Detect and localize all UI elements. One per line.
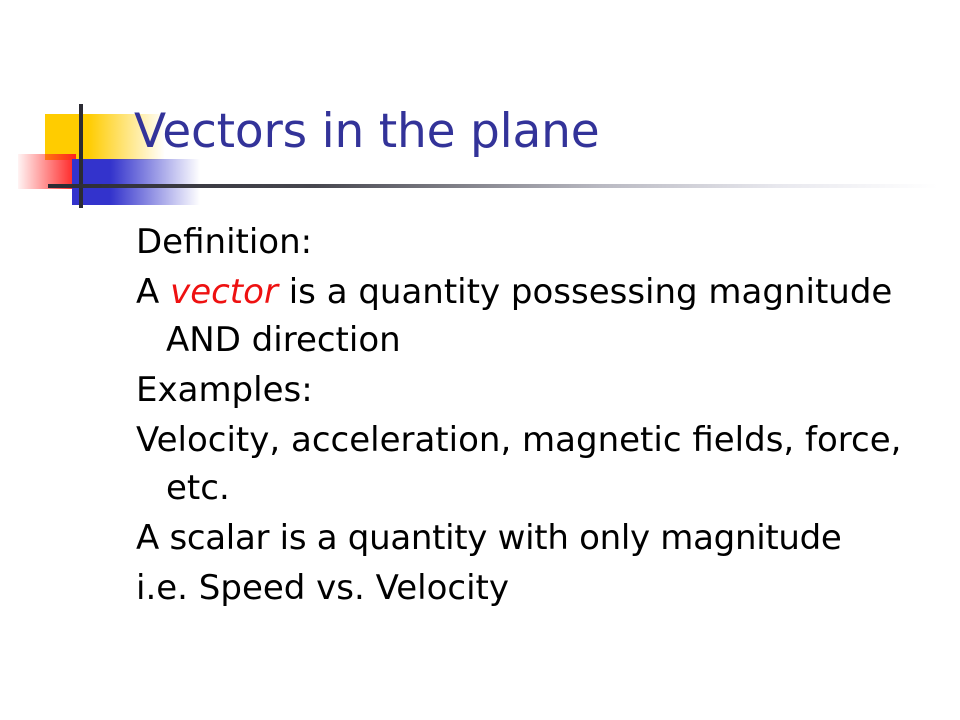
definition-body: A vector is a quantity possessing magnit… [136, 268, 946, 364]
definition-prefix: A [136, 272, 170, 312]
examples-label: Examples: [136, 366, 946, 414]
title-underline-rule [48, 184, 938, 188]
slide: Vectors in the plane Definition: A vecto… [0, 0, 960, 720]
page-title: Vectors in the plane [134, 104, 599, 160]
definition-label: Definition: [136, 218, 946, 266]
decoration-vertical-rule [79, 104, 83, 208]
examples-body: Velocity, acceleration, magnetic fields,… [136, 416, 946, 512]
scalar-definition: A scalar is a quantity with only magnitu… [136, 514, 946, 562]
decoration-blue-square [72, 159, 200, 205]
slide-body: Definition: A vector is a quantity posse… [136, 218, 946, 614]
scalar-example: i.e. Speed vs. Velocity [136, 564, 946, 612]
definition-emphasis-vector: vector [170, 272, 278, 312]
